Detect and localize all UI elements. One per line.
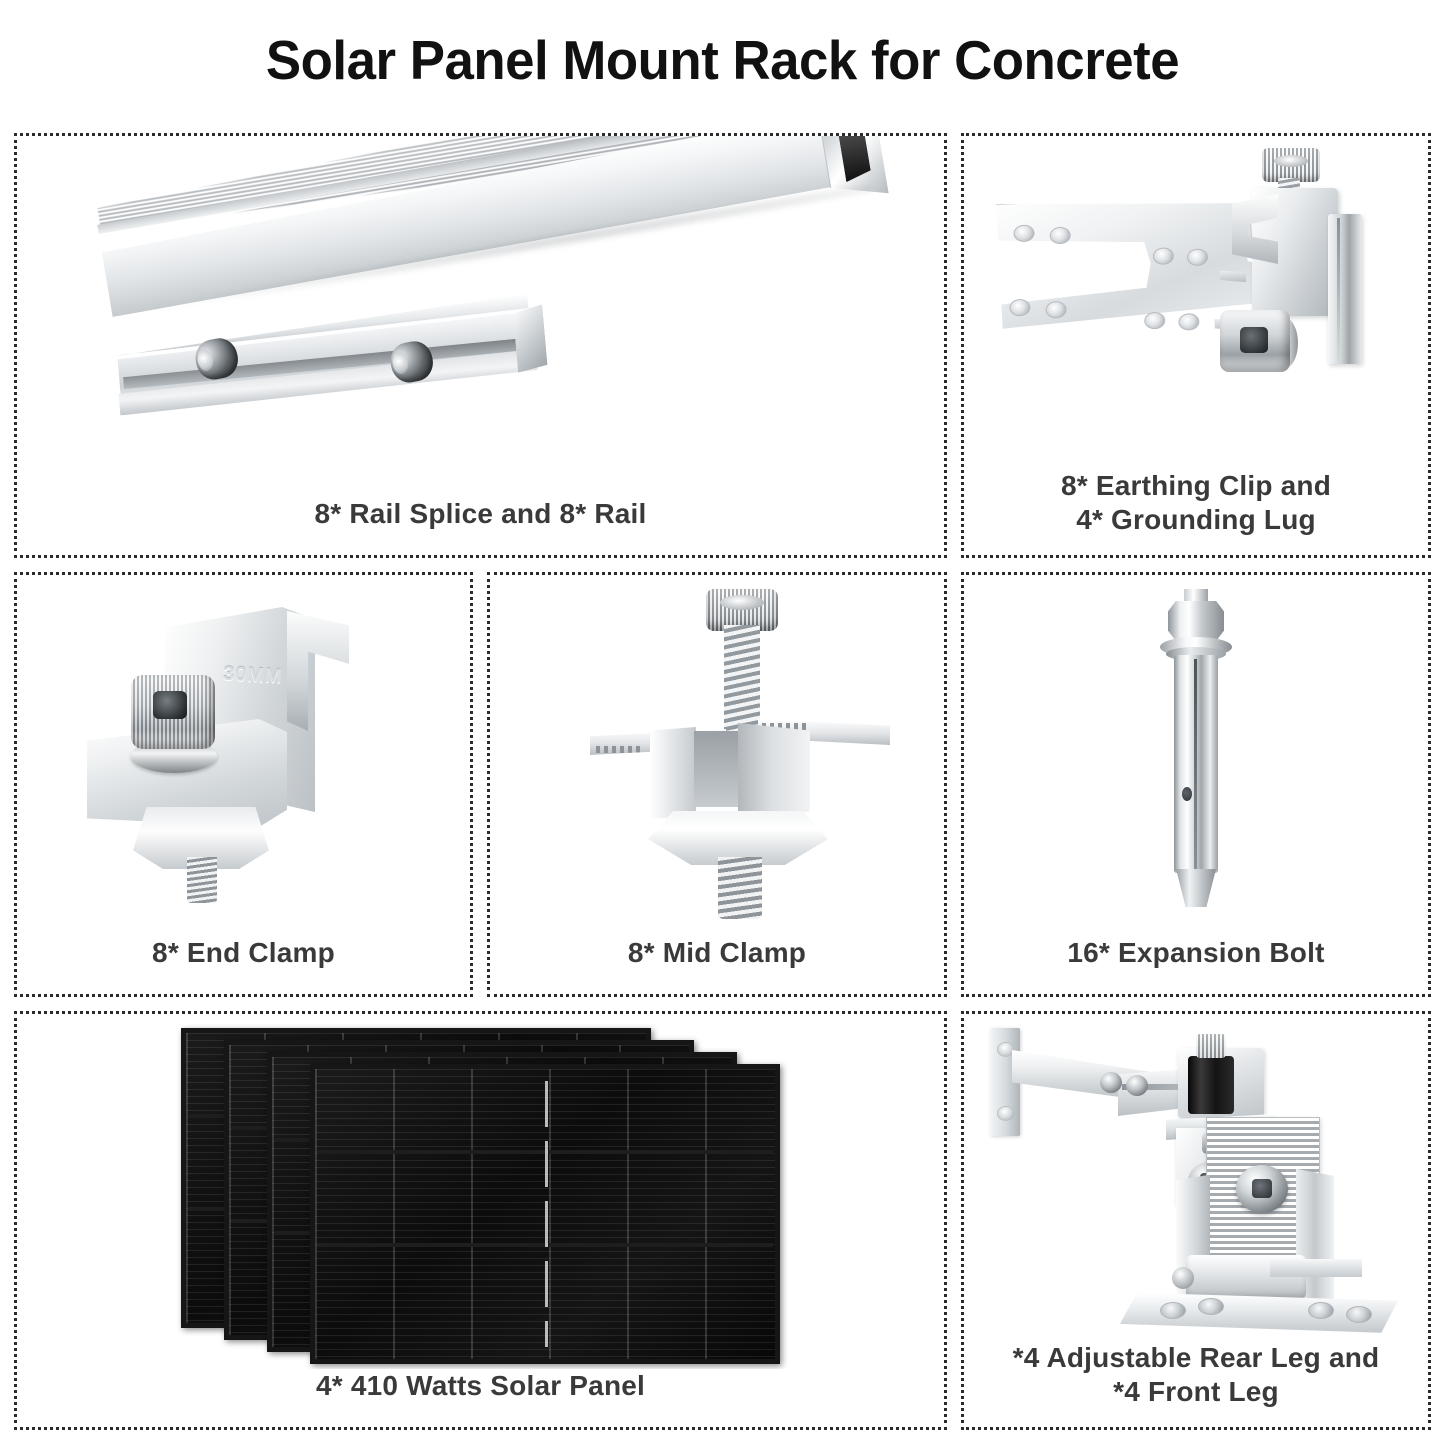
cell-expansion-bolt[interactable]: 16* Expansion Bolt [961,572,1431,997]
rail-splice-and-rail-image [17,136,944,497]
earthing-clip-hole-2 [1049,226,1071,244]
earthing-clip-and-grounding-lug-image [964,136,1428,469]
rail-splice-end-cap [512,304,548,372]
expansion-bolt-image [964,575,1428,936]
cell-solar-panel[interactable]: 4* 410 Watts Solar Panel [14,1011,947,1430]
solar-panel-image [17,1014,944,1369]
cell-rail-splice-and-rail[interactable]: 8* Rail Splice and 8* Rail [14,133,947,558]
product-infographic: Solar Panel Mount Rack for Concrete [0,0,1445,1445]
legs-illustration [964,1014,1428,1341]
expansion-bolt-cone-tip [1176,869,1216,907]
solar-panel-4 [310,1064,780,1364]
caption-line-2: 4* Grounding Lug [964,503,1428,537]
caption-rail-splice-and-rail: 8* Rail Splice and 8* Rail [17,497,944,555]
component-grid: 8* Rail Splice and 8* Rail [14,133,1431,1430]
cell-adjustable-rear-leg-and-front-leg[interactable]: *4 Adjustable Rear Leg and *4 Front Leg [961,1011,1431,1430]
page-title: Solar Panel Mount Rack for Concrete [29,28,1416,92]
expansion-bolt-hex-nut [1168,601,1224,641]
caption-line-2: *4 Front Leg [964,1375,1428,1409]
front-leg-illustration [1120,1103,1410,1333]
expansion-bolt-illustration [1160,589,1232,919]
mid-clamp-lower-thread [718,857,762,919]
end-clamp-threaded-stud [187,857,217,903]
legs-image [964,1014,1428,1341]
end-clamp-illustration: 30MM [75,599,357,915]
caption-end-clamp: 8* End Clamp [17,936,470,994]
caption-line-1: *4 Adjustable Rear Leg and [964,1341,1428,1375]
mid-clamp-illustration [590,589,890,919]
mid-clamp-inner-channel [694,731,742,807]
mid-clamp-left-body [650,727,696,819]
rear-leg-plate-hole-bottom [997,1106,1015,1121]
cell-earthing-clip-and-grounding-lug[interactable]: 8* Earthing Clip and 4* Grounding Lug [961,133,1431,558]
grid-row-3: 4* 410 Watts Solar Panel [14,1011,1431,1430]
end-clamp-image: 30MM [17,575,470,936]
mid-clamp-right-body [738,723,810,819]
caption-adjustable-rear-leg-and-front-leg: *4 Adjustable Rear Leg and *4 Front Leg [964,1341,1428,1427]
grounding-lug-illustration [1210,150,1410,410]
caption-earthing-clip-and-grounding-lug: 8* Earthing Clip and 4* Grounding Lug [964,469,1428,555]
earthing-clip-hole-7 [1144,312,1166,330]
grounding-lug-hex-socket-bolt [1220,310,1290,372]
caption-solar-panel: 4* 410 Watts Solar Panel [17,1369,944,1427]
front-leg-lock-nut [1328,1255,1368,1289]
rear-leg-adjustment-bolts [1100,1072,1152,1094]
rear-leg-bolt-1 [1100,1072,1122,1093]
cell-mid-clamp[interactable]: 8* Mid Clamp [487,572,947,997]
expansion-bolt-dimple [1182,787,1192,801]
front-leg-base-hole-4 [1346,1306,1372,1323]
end-clamp-hex-socket-bolt [131,675,215,749]
earthing-clip-hole-8 [1178,313,1200,331]
expansion-bolt-split-line [1194,659,1197,871]
caption-line-1: 8* Earthing Clip and [964,469,1428,503]
front-leg-pivot-cap [1172,1267,1194,1289]
grounding-lug-thumb-screw [1262,148,1320,182]
solar-panel-stack [181,1028,781,1364]
rear-leg-knurled-cap-bolt [1196,1034,1226,1058]
front-leg-base-hole-3 [1308,1302,1334,1319]
grid-row-2: 30MM 8* End Clamp [14,572,1431,997]
cell-end-clamp[interactable]: 30MM 8* End Clamp [14,572,473,997]
front-leg-adjustment-bolt [1236,1165,1288,1213]
grounding-lug-rail-wing [1328,214,1362,364]
grid-row-1: 8* Rail Splice and 8* Rail [14,133,1431,558]
solar-panel-busbar [545,1081,548,1348]
front-leg-base-hole-1 [1160,1302,1186,1319]
caption-expansion-bolt: 16* Expansion Bolt [964,936,1428,994]
front-leg-base-hole-2 [1198,1298,1224,1315]
rear-leg-bolt-2 [1126,1075,1148,1096]
mid-clamp-image [490,575,944,936]
caption-mid-clamp: 8* Mid Clamp [490,936,944,994]
end-clamp-size-marking: 30MM [222,663,311,691]
